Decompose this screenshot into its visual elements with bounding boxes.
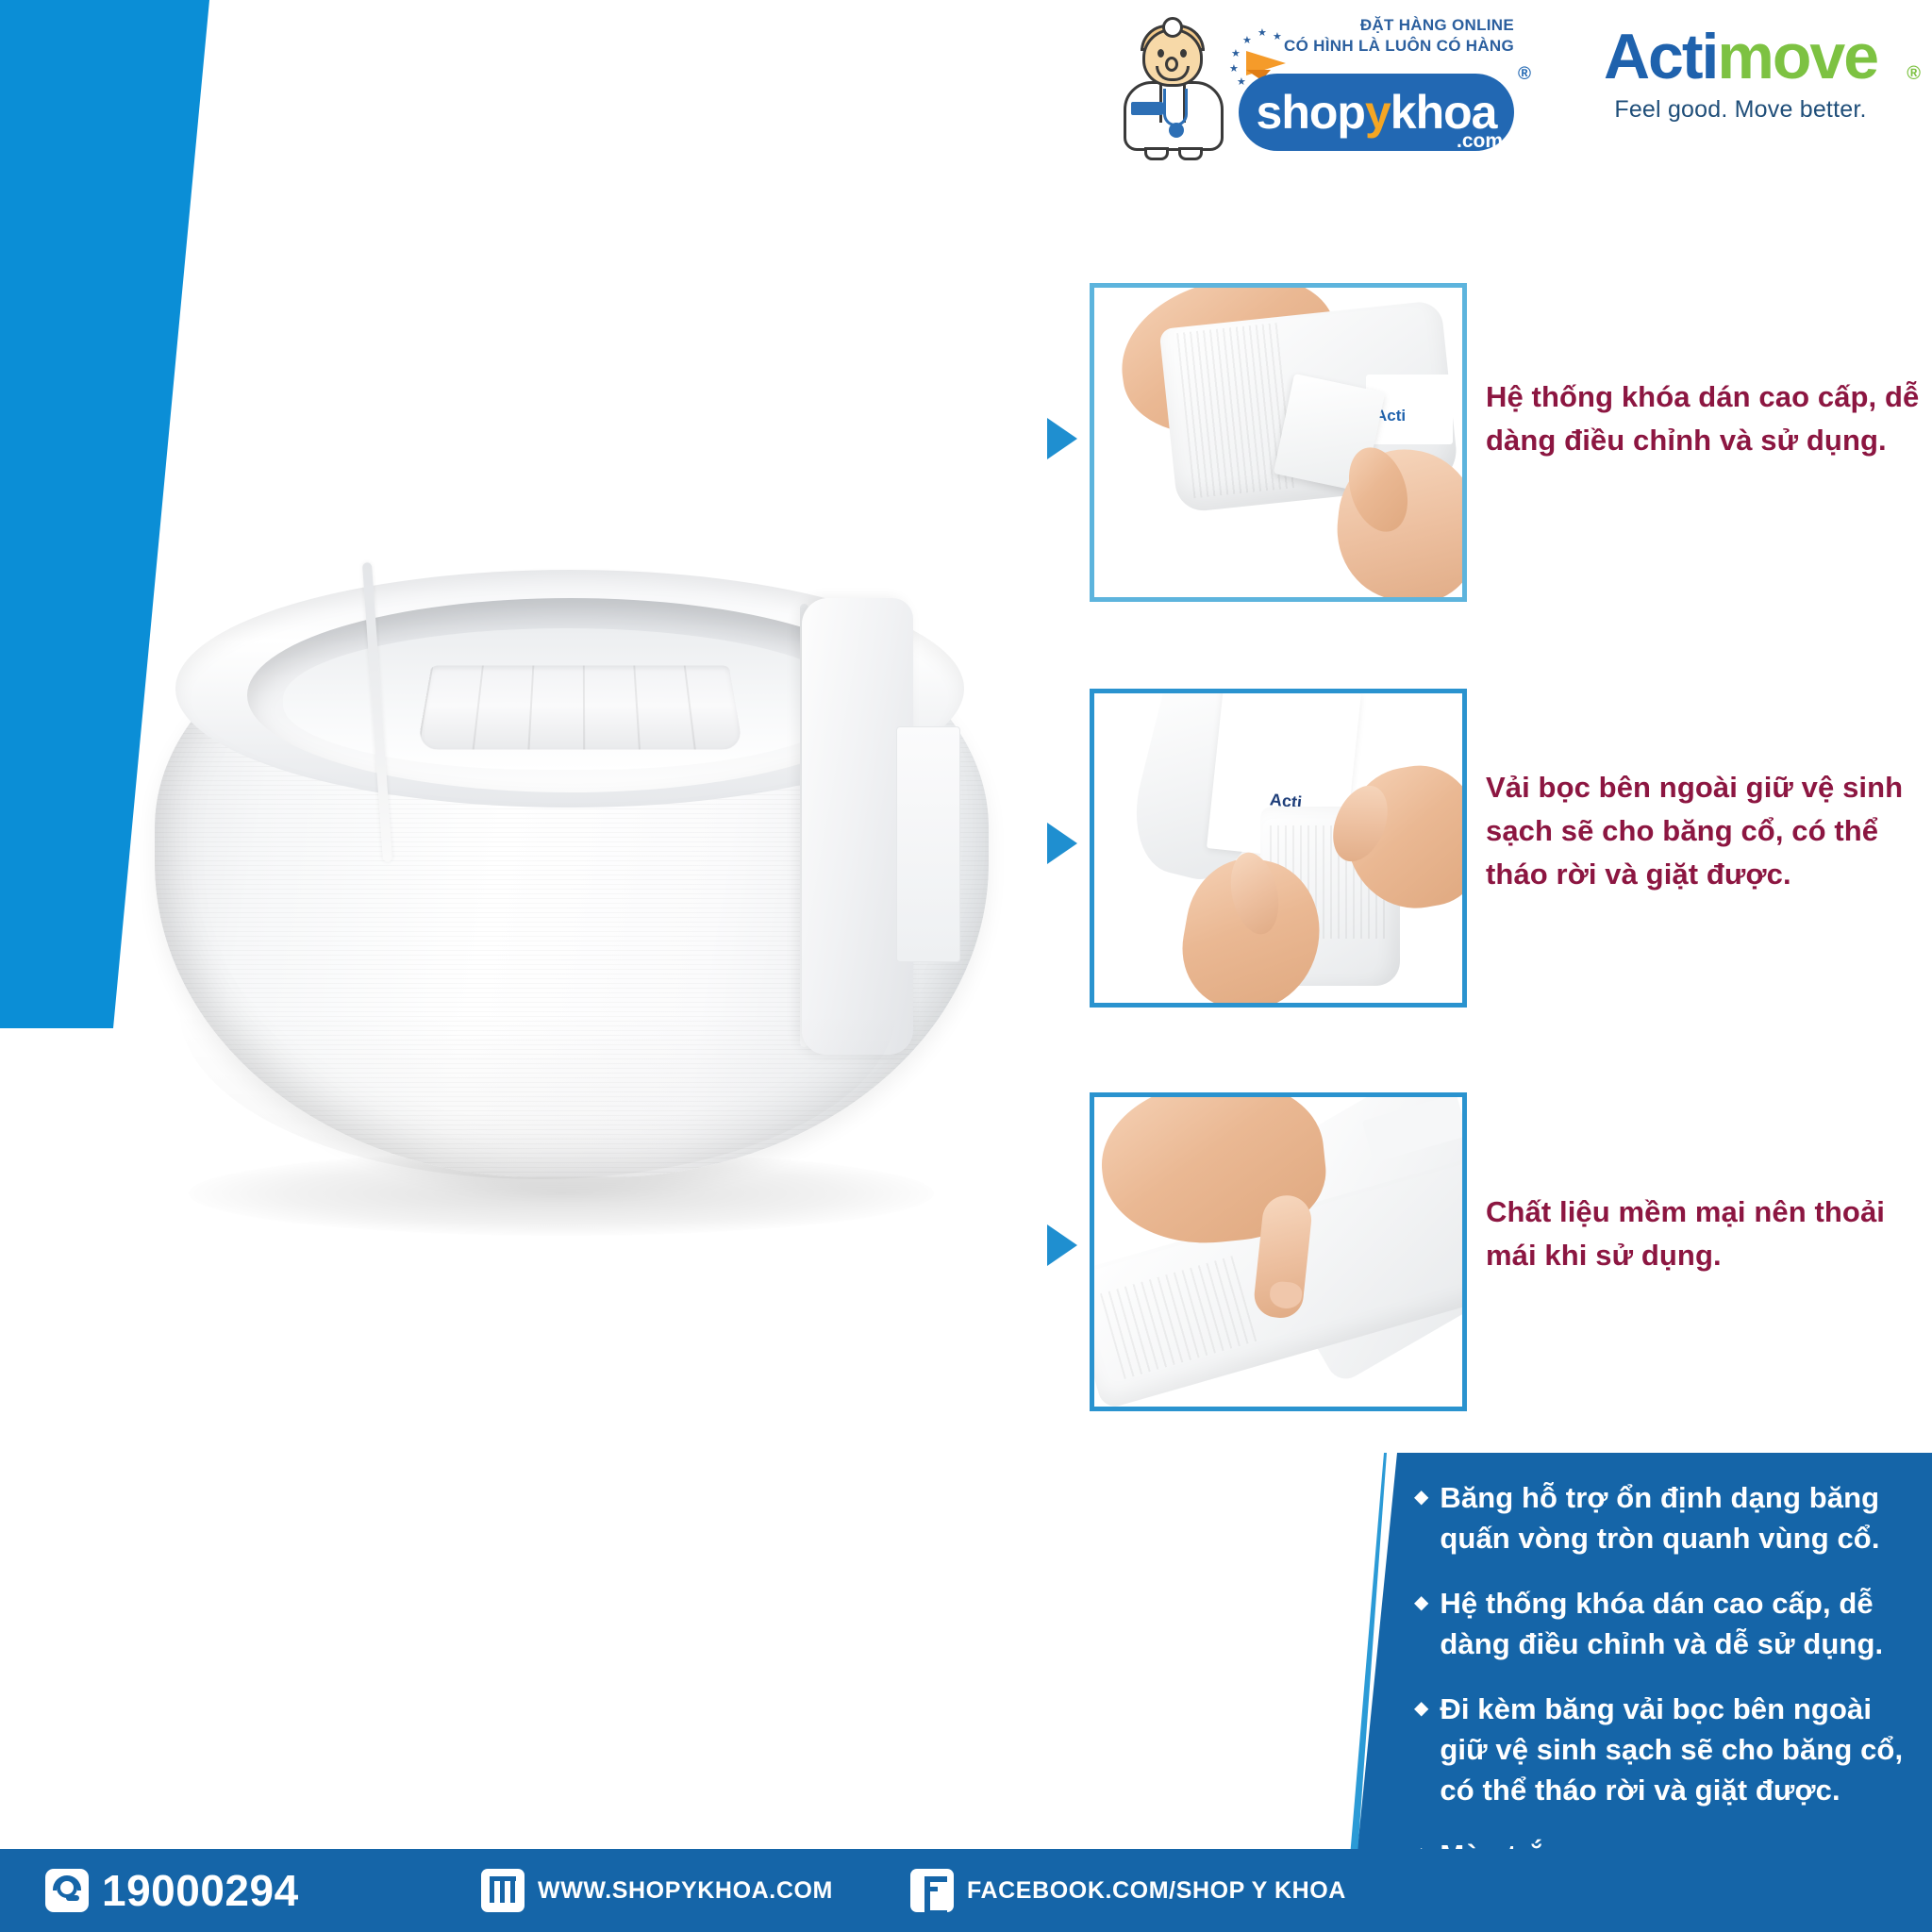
footer-bar: 19000294 WWW.SHOPYKHOA.COM FACEBOOK.COM/… xyxy=(0,1849,1932,1932)
footer-website[interactable]: WWW.SHOPYKHOA.COM xyxy=(481,1849,833,1932)
actimove-name-blue: Acti xyxy=(1604,21,1717,92)
bullet-text: Đi kèm băng vải bọc bên ngoài giữ vệ sin… xyxy=(1440,1689,1924,1810)
website-icon xyxy=(481,1869,525,1912)
bullet-item: ◆ Đi kèm băng vải bọc bên ngoài giữ vệ s… xyxy=(1414,1689,1924,1810)
actimove-registered-mark: ® xyxy=(1907,38,1919,109)
actimove-name-green: move xyxy=(1717,21,1877,92)
collar-label-patch xyxy=(896,726,960,962)
header: ★ ★ ★ ★ ★ ★ ★ ĐẶT HÀNG ONLINE CÓ HÌNH LÀ… xyxy=(0,0,1932,170)
photo-panel-removable-cover[interactable]: Acti xyxy=(1090,689,1467,1008)
actimove-logo[interactable]: Actimove ® Feel good. Move better. xyxy=(1566,21,1915,143)
footer-facebook[interactable]: FACEBOOK.COM/SHOP Y KHOA xyxy=(910,1849,1346,1932)
bullet-text: Hệ thống khóa dán cao cấp, dễ dàng điều … xyxy=(1440,1583,1924,1664)
actimove-tagline: Feel good. Move better. xyxy=(1566,96,1915,124)
wordmark-dotcom: .com xyxy=(1457,130,1503,153)
cervical-collar-illustration xyxy=(142,547,1009,1264)
feature-text-2: Vải bọc bên ngoài giữ vệ sinh sạch sẽ ch… xyxy=(1486,766,1929,896)
bullet-text: Băng hỗ trợ ổn định dạng băng quấn vòng … xyxy=(1440,1477,1924,1558)
velcro-strip xyxy=(417,666,743,750)
photo-panel-velcro-closure[interactable]: Acti xyxy=(1090,283,1467,602)
doctor-mascot-icon xyxy=(1118,15,1229,158)
facebook-icon xyxy=(910,1869,954,1912)
feature-text-3: Chất liệu mềm mại nên thoải mái khi sử d… xyxy=(1486,1191,1929,1277)
shopykhoa-wordmark: shopykhoa .com xyxy=(1239,74,1514,151)
infographic-canvas: ★ ★ ★ ★ ★ ★ ★ ĐẶT HÀNG ONLINE CÓ HÌNH LÀ… xyxy=(0,0,1932,1932)
bullet-glyph-icon: ◆ xyxy=(1414,1689,1428,1810)
headset-support-icon xyxy=(45,1869,89,1912)
slogan-line-2: CÓ HÌNH LÀ LUÔN CÓ HÀNG xyxy=(1259,36,1514,57)
feature-text-1: Hệ thống khóa dán cao cấp, dễ dàng điều … xyxy=(1486,375,1929,462)
footer-phone-number: 19000294 xyxy=(102,1865,299,1916)
wordmark-y: y xyxy=(1365,86,1391,139)
play-arrow-icon-3 xyxy=(1047,1224,1077,1266)
footer-website-url: WWW.SHOPYKHOA.COM xyxy=(538,1877,833,1905)
shopykhoa-logo[interactable]: ★ ★ ★ ★ ★ ★ ★ ĐẶT HÀNG ONLINE CÓ HÌNH LÀ… xyxy=(1118,8,1514,158)
shopykhoa-slogan: ĐẶT HÀNG ONLINE CÓ HÌNH LÀ LUÔN CÓ HÀNG xyxy=(1259,15,1514,57)
shopykhoa-registered-mark: ® xyxy=(1518,64,1531,85)
photo-panel-soft-material[interactable] xyxy=(1090,1092,1467,1411)
bullet-item: ◆ Băng hỗ trợ ổn định dạng băng quấn vòn… xyxy=(1414,1477,1924,1558)
wordmark-shop: shop xyxy=(1257,86,1365,139)
product-hero-image xyxy=(142,547,1009,1264)
bullet-item: ◆ Hệ thống khóa dán cao cấp, dễ dàng điề… xyxy=(1414,1583,1924,1664)
bullet-glyph-icon: ◆ xyxy=(1414,1477,1428,1558)
slogan-line-1: ĐẶT HÀNG ONLINE xyxy=(1259,15,1514,36)
bullet-panel: ◆ Băng hỗ trợ ổn định dạng băng quấn vòn… xyxy=(1356,1453,1932,1868)
footer-facebook-url: FACEBOOK.COM/SHOP Y KHOA xyxy=(967,1877,1346,1905)
play-arrow-icon-2 xyxy=(1047,823,1077,864)
play-arrow-icon-1 xyxy=(1047,418,1077,459)
footer-phone[interactable]: 19000294 xyxy=(45,1849,299,1932)
bullet-glyph-icon: ◆ xyxy=(1414,1583,1428,1664)
